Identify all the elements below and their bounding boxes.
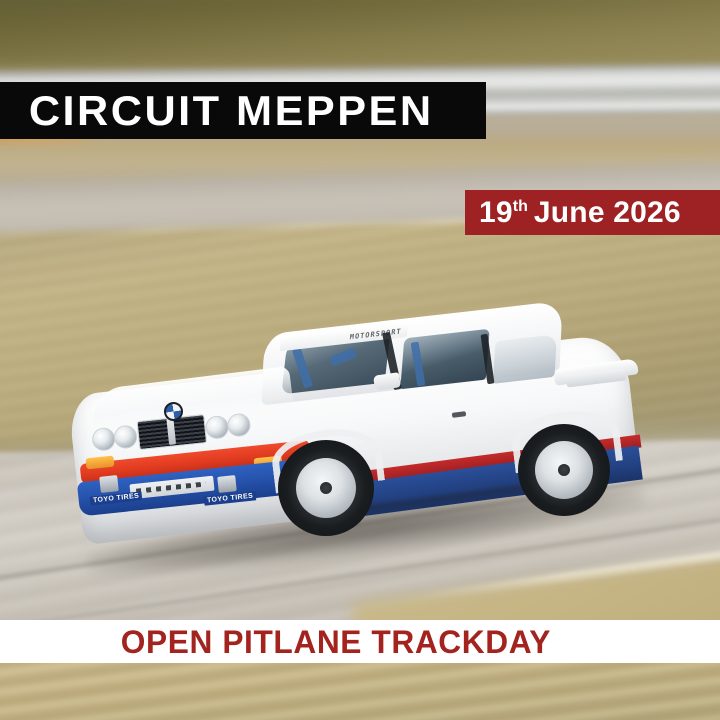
date-day: 19 xyxy=(479,196,513,229)
race-car: MOTORSPORT TOYO TIRES xyxy=(66,312,666,562)
headlight xyxy=(113,424,138,449)
headlight xyxy=(91,427,116,452)
event-subtitle: OPEN PITLANE TRACKDAY xyxy=(0,626,551,658)
brake-duct xyxy=(217,475,237,493)
date-month-year: June 2026 xyxy=(534,196,681,229)
page-title: CIRCUIT MEPPEN xyxy=(0,90,434,132)
title-banner: CIRCUIT MEPPEN xyxy=(0,82,486,139)
event-poster: MOTORSPORT TOYO TIRES xyxy=(0,0,720,720)
wheel-hub xyxy=(320,482,332,494)
date-text: 19thJune 2026 xyxy=(465,198,681,228)
front-wheel xyxy=(278,440,374,536)
rear-window xyxy=(493,334,557,384)
front-rim xyxy=(296,458,356,518)
wheel-hub xyxy=(558,464,570,476)
bottom-banner: OPEN PITLANE TRACKDAY xyxy=(0,620,720,663)
rear-rim xyxy=(535,441,593,499)
date-badge: 19thJune 2026 xyxy=(465,190,720,235)
headlight xyxy=(204,415,229,440)
rear-wheel xyxy=(518,424,610,516)
brake-duct xyxy=(99,475,119,493)
date-ordinal: th xyxy=(513,198,528,215)
grass-band xyxy=(0,0,720,72)
